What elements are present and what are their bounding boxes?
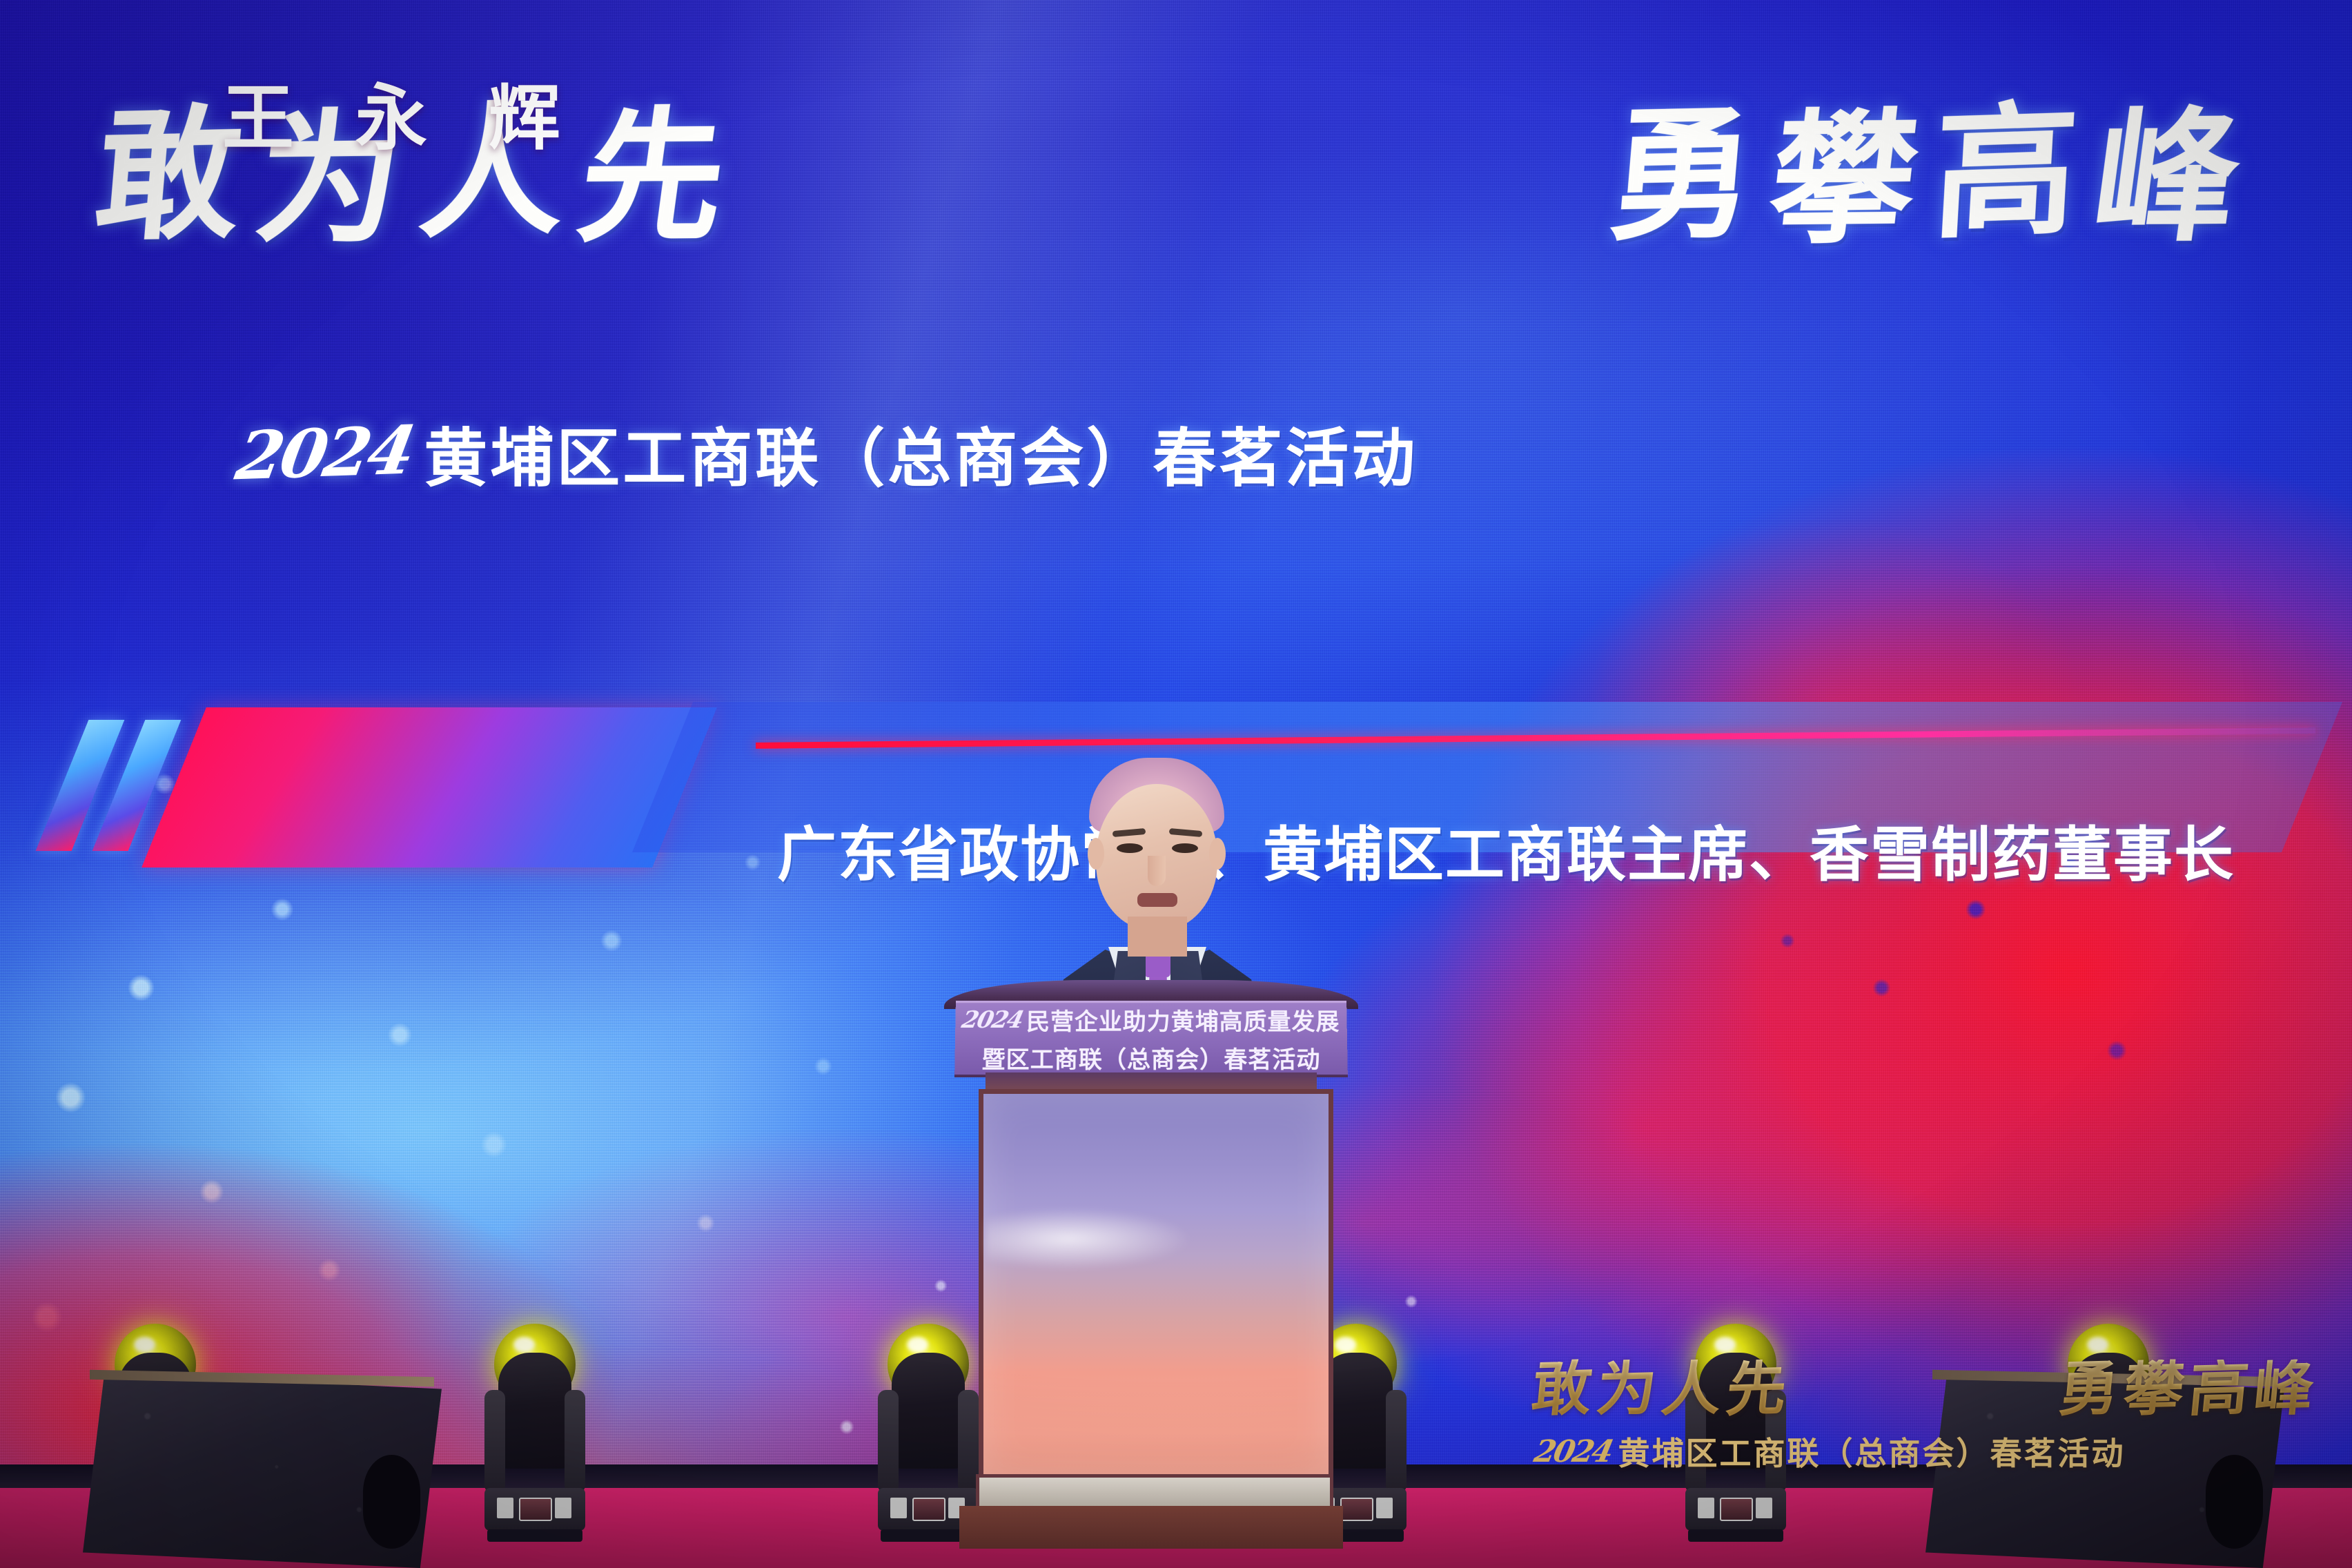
light-yoke-right [1386, 1390, 1407, 1493]
light-yoke-right [1765, 1390, 1786, 1493]
light-lcd-display [912, 1498, 945, 1521]
podium-front-panel [979, 1089, 1333, 1485]
light-foot [1688, 1529, 1783, 1542]
light-head [498, 1353, 571, 1469]
light-button-panel-right [1376, 1498, 1393, 1518]
light-foot [487, 1529, 582, 1542]
speaker-eye-right [1172, 843, 1198, 853]
light-yoke-left [1685, 1390, 1706, 1493]
light-lcd-display [519, 1498, 552, 1521]
podium-sign-line-1: 民营企业助力黄埔高质量发展 [1026, 1003, 1340, 1037]
speaker-bass-port [2206, 1455, 2263, 1548]
light-button-panel-right [555, 1498, 571, 1518]
light-button-panel-left [497, 1498, 513, 1518]
podium-sign-line-1-row: 2024 民营企业助力黄埔高质量发展 [962, 1003, 1340, 1037]
speaker-nose [1148, 856, 1166, 886]
floor-monitor-speaker [1925, 1373, 2284, 1568]
speaker-name: 王 永 辉 [222, 59, 650, 164]
light-yoke-left [878, 1390, 899, 1493]
speaker-mouth [1137, 893, 1177, 907]
stage-photo: 敢 为 人 先 勇 攀 高 峰 2024 黄埔区工商联（总商会）春茗活动 王 永… [0, 0, 2352, 1568]
light-button-panel-right [1756, 1498, 1772, 1518]
light-yoke-left [484, 1390, 505, 1493]
speaker-title: 广东省政协常委、黄埔区工商联主席、香雪制药董事长 [777, 806, 2235, 892]
podium-year-dragon-logo: 2024 [959, 1006, 1026, 1034]
podium-sign-line-2: 暨区工商联（总商会）春茗活动 [981, 1041, 1320, 1075]
podium-sign: 2024 民营企业助力黄埔高质量发展 暨区工商联（总商会）春茗活动 [954, 1001, 1348, 1077]
floor-monitor-speaker [83, 1373, 442, 1568]
speaker-bass-port [363, 1455, 420, 1548]
moving-head-light [1684, 1324, 1787, 1545]
podium-foot [959, 1506, 1343, 1549]
light-yoke-right [565, 1390, 585, 1493]
light-lcd-display [1720, 1498, 1753, 1521]
moving-head-light [483, 1324, 587, 1545]
speaker-tie-knot [1144, 954, 1170, 977]
speaker-ear-right [1209, 838, 1226, 870]
light-button-panel-left [1698, 1498, 1714, 1518]
speaker-neck [1128, 917, 1187, 957]
light-button-panel-left [890, 1498, 907, 1518]
speaker-eye-left [1117, 843, 1143, 853]
light-head [1699, 1353, 1772, 1469]
speaker-ear-left [1088, 838, 1104, 870]
podium-reflection [986, 1208, 1193, 1270]
podium: 2024 民营企业助力黄埔高质量发展 暨区工商联（总商会）春茗活动 [944, 980, 1358, 1568]
